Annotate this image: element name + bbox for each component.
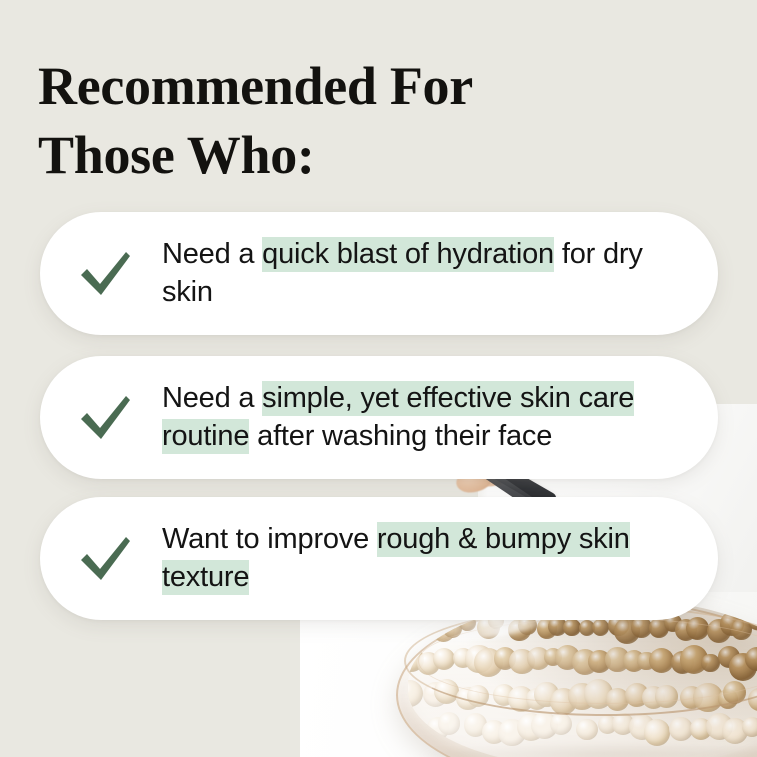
benefit-card-list: Need a quick blast of hydration for dry … — [0, 0, 757, 757]
checkmark-icon — [40, 393, 162, 443]
plain-phrase: Want to improve — [162, 523, 377, 555]
benefit-card: Need a simple, yet effective skin care r… — [40, 356, 718, 479]
plain-phrase: Need a — [162, 382, 262, 414]
plain-phrase: after washing their face — [249, 420, 552, 452]
benefit-text: Want to improve rough & bumpy skin textu… — [162, 520, 718, 596]
checkmark-icon — [40, 534, 162, 584]
highlighted-phrase: quick blast of hydration — [262, 237, 554, 272]
benefit-text: Need a simple, yet effective skin care r… — [162, 379, 718, 455]
checkmark-icon — [40, 249, 162, 299]
benefit-card: Need a quick blast of hydration for dry … — [40, 212, 718, 335]
plain-phrase: Need a — [162, 238, 262, 270]
benefit-text: Need a quick blast of hydration for dry … — [162, 235, 718, 311]
benefit-card: Want to improve rough & bumpy skin textu… — [40, 497, 718, 620]
